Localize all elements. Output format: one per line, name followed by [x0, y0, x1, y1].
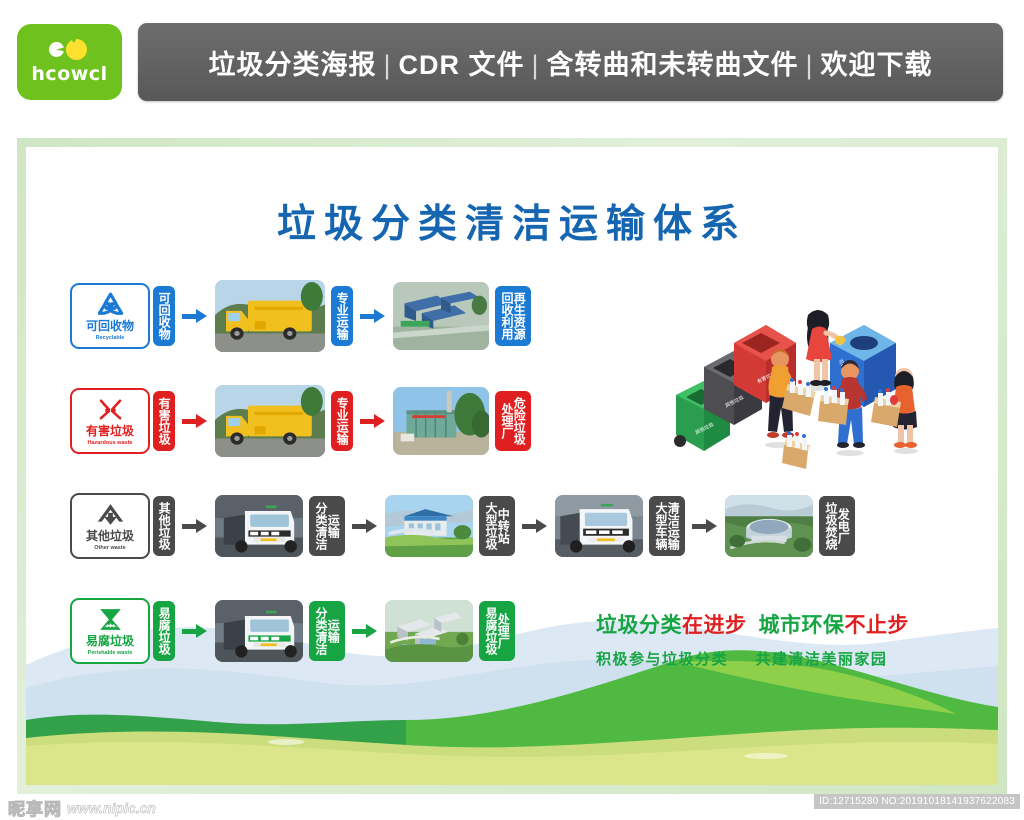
step-label-column: 发电厂: [837, 508, 849, 544]
banner-separator: |: [376, 50, 398, 80]
watermark-site-name: 昵享网: [8, 795, 62, 820]
flow-arrow-icon: [352, 519, 378, 533]
step-label-other-12: 垃圾焚烧发电厂: [819, 496, 855, 556]
step-label-perishable-3: 分类清洁运输: [309, 601, 345, 661]
site-logo[interactable]: hcowcl: [17, 24, 122, 100]
recycling-plant-photo: [393, 282, 489, 350]
category-badge-label-cn: 可回收物: [86, 320, 134, 333]
step-label-column: 回收利用: [501, 292, 513, 340]
category-badge-label-en: Perishable waste: [88, 650, 133, 656]
category-badge-label-cn: 其他垃圾: [86, 530, 134, 543]
slogan-line-2-left: 积极参与垃圾分类: [596, 651, 728, 668]
poster-frame: 垃圾分类清洁运输体系 其他垃圾 其他垃圾: [17, 138, 1007, 794]
slogan-line-1: 垃圾分类在进步城市环保不止步: [596, 609, 976, 639]
slogan-segment: 不止步: [845, 614, 910, 637]
step-label-hazardous-0: 有害垃圾: [153, 391, 175, 451]
banner-text: 垃圾分类海报|CDR 文件|含转曲和未转曲文件|欢迎下载: [208, 43, 932, 82]
download-banner: 垃圾分类海报|CDR 文件|含转曲和未转曲文件|欢迎下载: [138, 23, 1003, 101]
logo-wordmark: hcowcl: [31, 63, 107, 85]
category-badge-label-cn: 有害垃圾: [86, 425, 134, 438]
flow-arrow-icon: [522, 519, 548, 533]
step-label-column: 清洁运输: [667, 502, 679, 550]
step-label-column: 处理厂: [501, 403, 513, 439]
watermark: 昵享网 www.nipic.cn: [8, 795, 156, 820]
image-id-tag: ID:12715280 NO:20191018141937622083: [814, 794, 1020, 809]
banner-part: 垃圾分类海报: [208, 50, 376, 80]
transfer-station-photo: [385, 495, 473, 557]
banner-separator: |: [524, 50, 546, 80]
step-label-other-6: 大型垃圾中转站: [479, 496, 515, 556]
flow-arrow-icon: [692, 519, 718, 533]
hazardous-treatment-plant-photo: [393, 387, 489, 455]
category-badge-label-en: Other waste: [94, 545, 125, 551]
flow-arrow-icon: [352, 624, 378, 638]
white-street-truck-photo: [555, 495, 643, 557]
step-label-hazardous-6: 处理厂危险垃圾: [495, 391, 531, 451]
flow-arrow-icon: [182, 414, 208, 428]
step-label-column: 易腐垃圾: [158, 607, 170, 655]
step-label-column: 可回收物: [158, 292, 170, 340]
flow-arrow-icon: [360, 414, 386, 428]
step-label-column: 专业运输: [336, 292, 348, 340]
yellow-hazardous-truck-photo: [215, 385, 325, 457]
footer-watermark-bar: 昵享网 www.nipic.cn ID:12715280 NO:20191018…: [0, 792, 1024, 819]
step-label-other-9: 大型车辆清洁运输: [649, 496, 685, 556]
step-label-column: 易腐垃圾: [485, 607, 497, 655]
flow-arrow-icon: [182, 519, 208, 533]
flow-row-hazardous: 有害垃圾Hazardous waste有害垃圾专业运输处理厂危险垃圾: [70, 380, 970, 462]
flow-arrow-icon: [182, 624, 208, 638]
step-label-column: 运输: [327, 514, 339, 538]
slogan-line-2: 积极参与垃圾分类 共建清洁美丽家园: [596, 648, 976, 669]
step-label-column: 分类清洁: [315, 607, 327, 655]
waste-power-plant-photo: [725, 495, 813, 557]
hazard-arrows-icon: [94, 396, 127, 423]
step-label-column: 运输: [327, 619, 339, 643]
flow-row-other: 其他垃圾Other waste其他垃圾分类清洁运输大型垃圾中转站大型车辆清洁运输…: [70, 485, 970, 567]
slogan-line-2-right: 共建清洁美丽家园: [755, 651, 887, 668]
category-badge-recyclable[interactable]: 可回收物Recyclable: [70, 283, 150, 349]
flow-arrow-icon: [360, 309, 386, 323]
yellow-recycling-truck-photo: [215, 280, 325, 352]
poster-title: 垃圾分类清洁运输体系: [26, 193, 998, 249]
organic-treatment-plant-photo: [385, 600, 473, 662]
watermark-url: www.nipic.cn: [67, 800, 156, 816]
slogan-segment: 城市环保: [759, 614, 845, 637]
step-label-column: 再生资源: [513, 292, 525, 340]
category-badge-perishable[interactable]: 易腐垃圾Perishable waste: [70, 598, 150, 664]
recycle-triangle-icon: [94, 291, 127, 318]
step-label-column: 垃圾焚烧: [825, 502, 837, 550]
step-label-column: 大型车辆: [655, 502, 667, 550]
banner-part: CDR 文件: [398, 50, 524, 80]
white-collection-truck-photo: [215, 495, 303, 557]
step-label-column: 其他垃圾: [158, 502, 170, 550]
step-label-perishable-6: 易腐垃圾处理厂: [479, 601, 515, 661]
step-label-column: 中转站: [497, 508, 509, 544]
step-label-other-3: 分类清洁运输: [309, 496, 345, 556]
step-label-perishable-0: 易腐垃圾: [153, 601, 175, 661]
step-label-column: 大型垃圾: [485, 502, 497, 550]
slogan-block: 垃圾分类在进步城市环保不止步 积极参与垃圾分类 共建清洁美丽家园: [596, 609, 976, 669]
step-label-column: 分类清洁: [315, 502, 327, 550]
flow-row-recyclable: 可回收物Recyclable可回收物专业运输回收利用再生资源: [70, 275, 970, 357]
step-label-column: 危险垃圾: [513, 397, 525, 445]
slogan-segment: 垃圾分类: [596, 614, 682, 637]
category-badge-label-en: Hazardous waste: [88, 440, 133, 446]
banner-separator: |: [799, 50, 821, 80]
step-label-column: 处理厂: [497, 613, 509, 649]
step-label-column: 有害垃圾: [158, 397, 170, 445]
poster-canvas: 垃圾分类清洁运输体系 其他垃圾 其他垃圾: [26, 147, 998, 785]
step-label-recyclable-0: 可回收物: [153, 286, 175, 346]
category-badge-hazardous[interactable]: 有害垃圾Hazardous waste: [70, 388, 150, 454]
green-collection-truck-photo: [215, 600, 303, 662]
category-badge-label-en: Recyclable: [96, 335, 125, 341]
top-bar: hcowcl 垃圾分类海报|CDR 文件|含转曲和未转曲文件|欢迎下载: [0, 0, 1024, 118]
perishable-icon: [94, 606, 127, 633]
banner-part: 欢迎下载: [821, 50, 933, 80]
flow-arrow-icon: [182, 309, 208, 323]
category-badge-other[interactable]: 其他垃圾Other waste: [70, 493, 150, 559]
banner-part: 含转曲和未转曲文件: [547, 50, 799, 80]
category-badge-label-cn: 易腐垃圾: [86, 635, 134, 648]
step-label-recyclable-3: 专业运输: [331, 286, 353, 346]
slogan-segment: 在进步: [682, 614, 747, 637]
step-label-column: 专业运输: [336, 397, 348, 445]
step-label-other-0: 其他垃圾: [153, 496, 175, 556]
logo-mark-icon: [47, 39, 93, 61]
step-label-hazardous-3: 专业运输: [331, 391, 353, 451]
other-waste-icon: [94, 501, 127, 528]
step-label-recyclable-6: 回收利用再生资源: [495, 286, 531, 346]
